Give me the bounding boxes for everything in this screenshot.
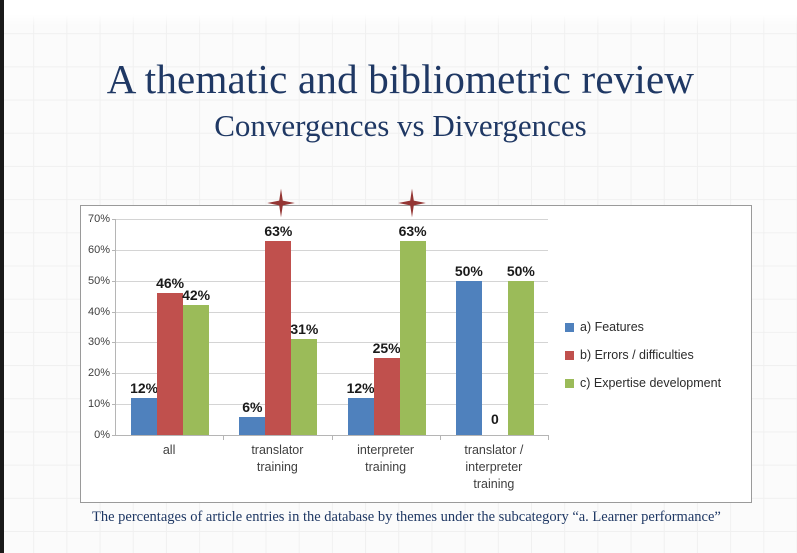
chart-category-axis: alltranslatortraininginterpretertraining…: [115, 438, 548, 500]
chart-bar[interactable]: [456, 281, 482, 435]
chart-bar-slot: 12%: [131, 219, 157, 435]
chart-legend-item[interactable]: c) Expertise development: [565, 376, 745, 390]
chart-y-tick-label: 60%: [88, 244, 110, 256]
chart-bar-slot: 31%: [291, 219, 317, 435]
chart-bar-group: 6%63%31%: [224, 219, 332, 435]
chart-bar-slot: 50%: [456, 219, 482, 435]
chart-bar[interactable]: [348, 398, 374, 435]
chart-bar-slot: 12%: [348, 219, 374, 435]
chart-bar-group: 12%25%63%: [333, 219, 441, 435]
chart-legend-swatch: [565, 351, 574, 360]
chart-category-label: interpretertraining: [332, 442, 440, 476]
chart-category-label: translator /interpretertraining: [440, 442, 548, 493]
chart-bar[interactable]: [508, 281, 534, 435]
sheet-top-fade: [4, 0, 797, 26]
chart-bar-label: 12%: [130, 380, 158, 396]
figure-caption: The percentages of article entries in th…: [92, 508, 732, 527]
chart-y-tick-label: 10%: [88, 398, 110, 410]
chart-legend: a) Featuresb) Errors / difficultiesc) Ex…: [565, 320, 745, 404]
chart-bar-group-bars: 12%25%63%: [333, 219, 441, 435]
chart-legend-item[interactable]: b) Errors / difficulties: [565, 348, 745, 362]
slide-title-block: A thematic and bibliometric review Conve…: [4, 55, 797, 145]
chart-bar-label: 0: [491, 411, 499, 427]
chart-bar-slot: 6%: [239, 219, 265, 435]
chart-bar-label: 63%: [399, 223, 427, 239]
chart-container: 70%60%50%40%30%20%10%0%12%46%42%6%63%31%…: [80, 205, 752, 503]
chart-legend-label: c) Expertise development: [580, 376, 721, 390]
chart-bar-label: 31%: [290, 321, 318, 337]
chart-y-tick-label: 0%: [94, 429, 110, 441]
chart-bar-group-bars: 50%050%: [441, 219, 549, 435]
page-subtitle: Convergences vs Divergences: [4, 107, 797, 145]
chart-bar-group: 12%46%42%: [116, 219, 224, 435]
chart-bar-slot: 42%: [183, 219, 209, 435]
chart-bar-label: 50%: [455, 263, 483, 279]
chart-legend-swatch: [565, 379, 574, 388]
chart-bar[interactable]: [157, 293, 183, 435]
chart-bar-label: 50%: [507, 263, 535, 279]
chart-bar[interactable]: [239, 417, 265, 436]
chart-bar[interactable]: [291, 339, 317, 435]
chart-y-tick-label: 20%: [88, 367, 110, 379]
chart-bar-label: 12%: [347, 380, 375, 396]
chart-y-tick-label: 40%: [88, 306, 110, 318]
chart-bar-slot: 63%: [265, 219, 291, 435]
chart-legend-item[interactable]: a) Features: [565, 320, 745, 334]
chart-bar-slot: 0: [482, 219, 508, 435]
chart-bar-slot: 63%: [400, 219, 426, 435]
chart-bar-slot: 25%: [374, 219, 400, 435]
chart-category-separator: [548, 435, 549, 440]
chart-bar-label: 6%: [242, 399, 262, 415]
chart-legend-label: b) Errors / difficulties: [580, 348, 694, 362]
chart-bar-group-bars: 12%46%42%: [116, 219, 224, 435]
chart-legend-label: a) Features: [580, 320, 644, 334]
chart-bar[interactable]: [400, 241, 426, 435]
chart-bar-group: 50%050%: [441, 219, 549, 435]
chart-bar[interactable]: [265, 241, 291, 435]
chart-bar-label: 46%: [156, 275, 184, 291]
chart-y-tickmark: [112, 435, 116, 436]
page-title: A thematic and bibliometric review: [4, 55, 797, 103]
chart-bar-label: 25%: [373, 340, 401, 356]
chart-bar-label: 42%: [182, 287, 210, 303]
chart-category-label: all: [115, 442, 223, 459]
chart-bar-slot: 50%: [508, 219, 534, 435]
chart-y-tick-label: 30%: [88, 336, 110, 348]
chart-y-tick-label: 70%: [88, 213, 110, 225]
chart-y-tick-label: 50%: [88, 275, 110, 287]
chart-bar[interactable]: [131, 398, 157, 435]
chart-bar[interactable]: [374, 358, 400, 435]
chart-bar-group-bars: 6%63%31%: [224, 219, 332, 435]
chart-plot-area: 70%60%50%40%30%20%10%0%12%46%42%6%63%31%…: [115, 219, 548, 435]
chart-bar-slot: 46%: [157, 219, 183, 435]
chart-legend-swatch: [565, 323, 574, 332]
chart-bar[interactable]: [183, 305, 209, 435]
chart-bar-label: 63%: [264, 223, 292, 239]
chart-category-label: translatortraining: [223, 442, 331, 476]
